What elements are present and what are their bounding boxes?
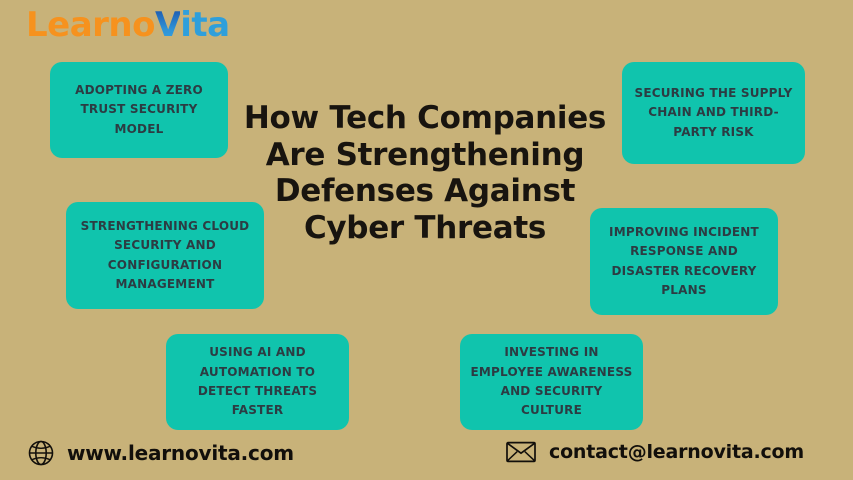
logo-text-learno: Learno: [26, 5, 155, 45]
topic-card: ADOPTING A ZERO TRUST SECURITY MODEL: [50, 62, 228, 158]
topic-card-label: INVESTING IN EMPLOYEE AWARENESS AND SECU…: [470, 343, 633, 421]
globe-icon: [28, 440, 54, 466]
topic-card: USING AI AND AUTOMATION TO DETECT THREAT…: [166, 334, 349, 430]
footer-email[interactable]: contact@learnovita.com: [506, 441, 804, 463]
topic-card: STRENGTHENING CLOUD SECURITY AND CONFIGU…: [66, 202, 264, 309]
topic-card-label: ADOPTING A ZERO TRUST SECURITY MODEL: [60, 81, 218, 139]
topic-card: INVESTING IN EMPLOYEE AWARENESS AND SECU…: [460, 334, 643, 430]
topic-card-label: USING AI AND AUTOMATION TO DETECT THREAT…: [176, 343, 339, 421]
footer-email-label: contact@learnovita.com: [549, 441, 804, 463]
topic-card-label: IMPROVING INCIDENT RESPONSE AND DISASTER…: [600, 223, 768, 301]
topic-card-label: SECURING THE SUPPLY CHAIN AND THIRD-PART…: [632, 84, 795, 142]
topic-card-label: STRENGTHENING CLOUD SECURITY AND CONFIGU…: [76, 217, 254, 295]
topic-card: IMPROVING INCIDENT RESPONSE AND DISASTER…: [590, 208, 778, 315]
page-title: How Tech Companies Are Strengthening Def…: [238, 100, 612, 246]
footer-website-label: www.learnovita.com: [67, 441, 294, 465]
topic-card: SECURING THE SUPPLY CHAIN AND THIRD-PART…: [622, 62, 805, 164]
footer-website[interactable]: www.learnovita.com: [28, 440, 294, 466]
logo-text-ita: ita: [180, 5, 229, 45]
envelope-icon: [506, 441, 536, 463]
learnovita-logo: LearnoVita: [26, 8, 230, 42]
logo-text-v: V: [155, 5, 180, 45]
infographic-canvas: LearnoVita How Tech Companies Are Streng…: [0, 0, 853, 480]
